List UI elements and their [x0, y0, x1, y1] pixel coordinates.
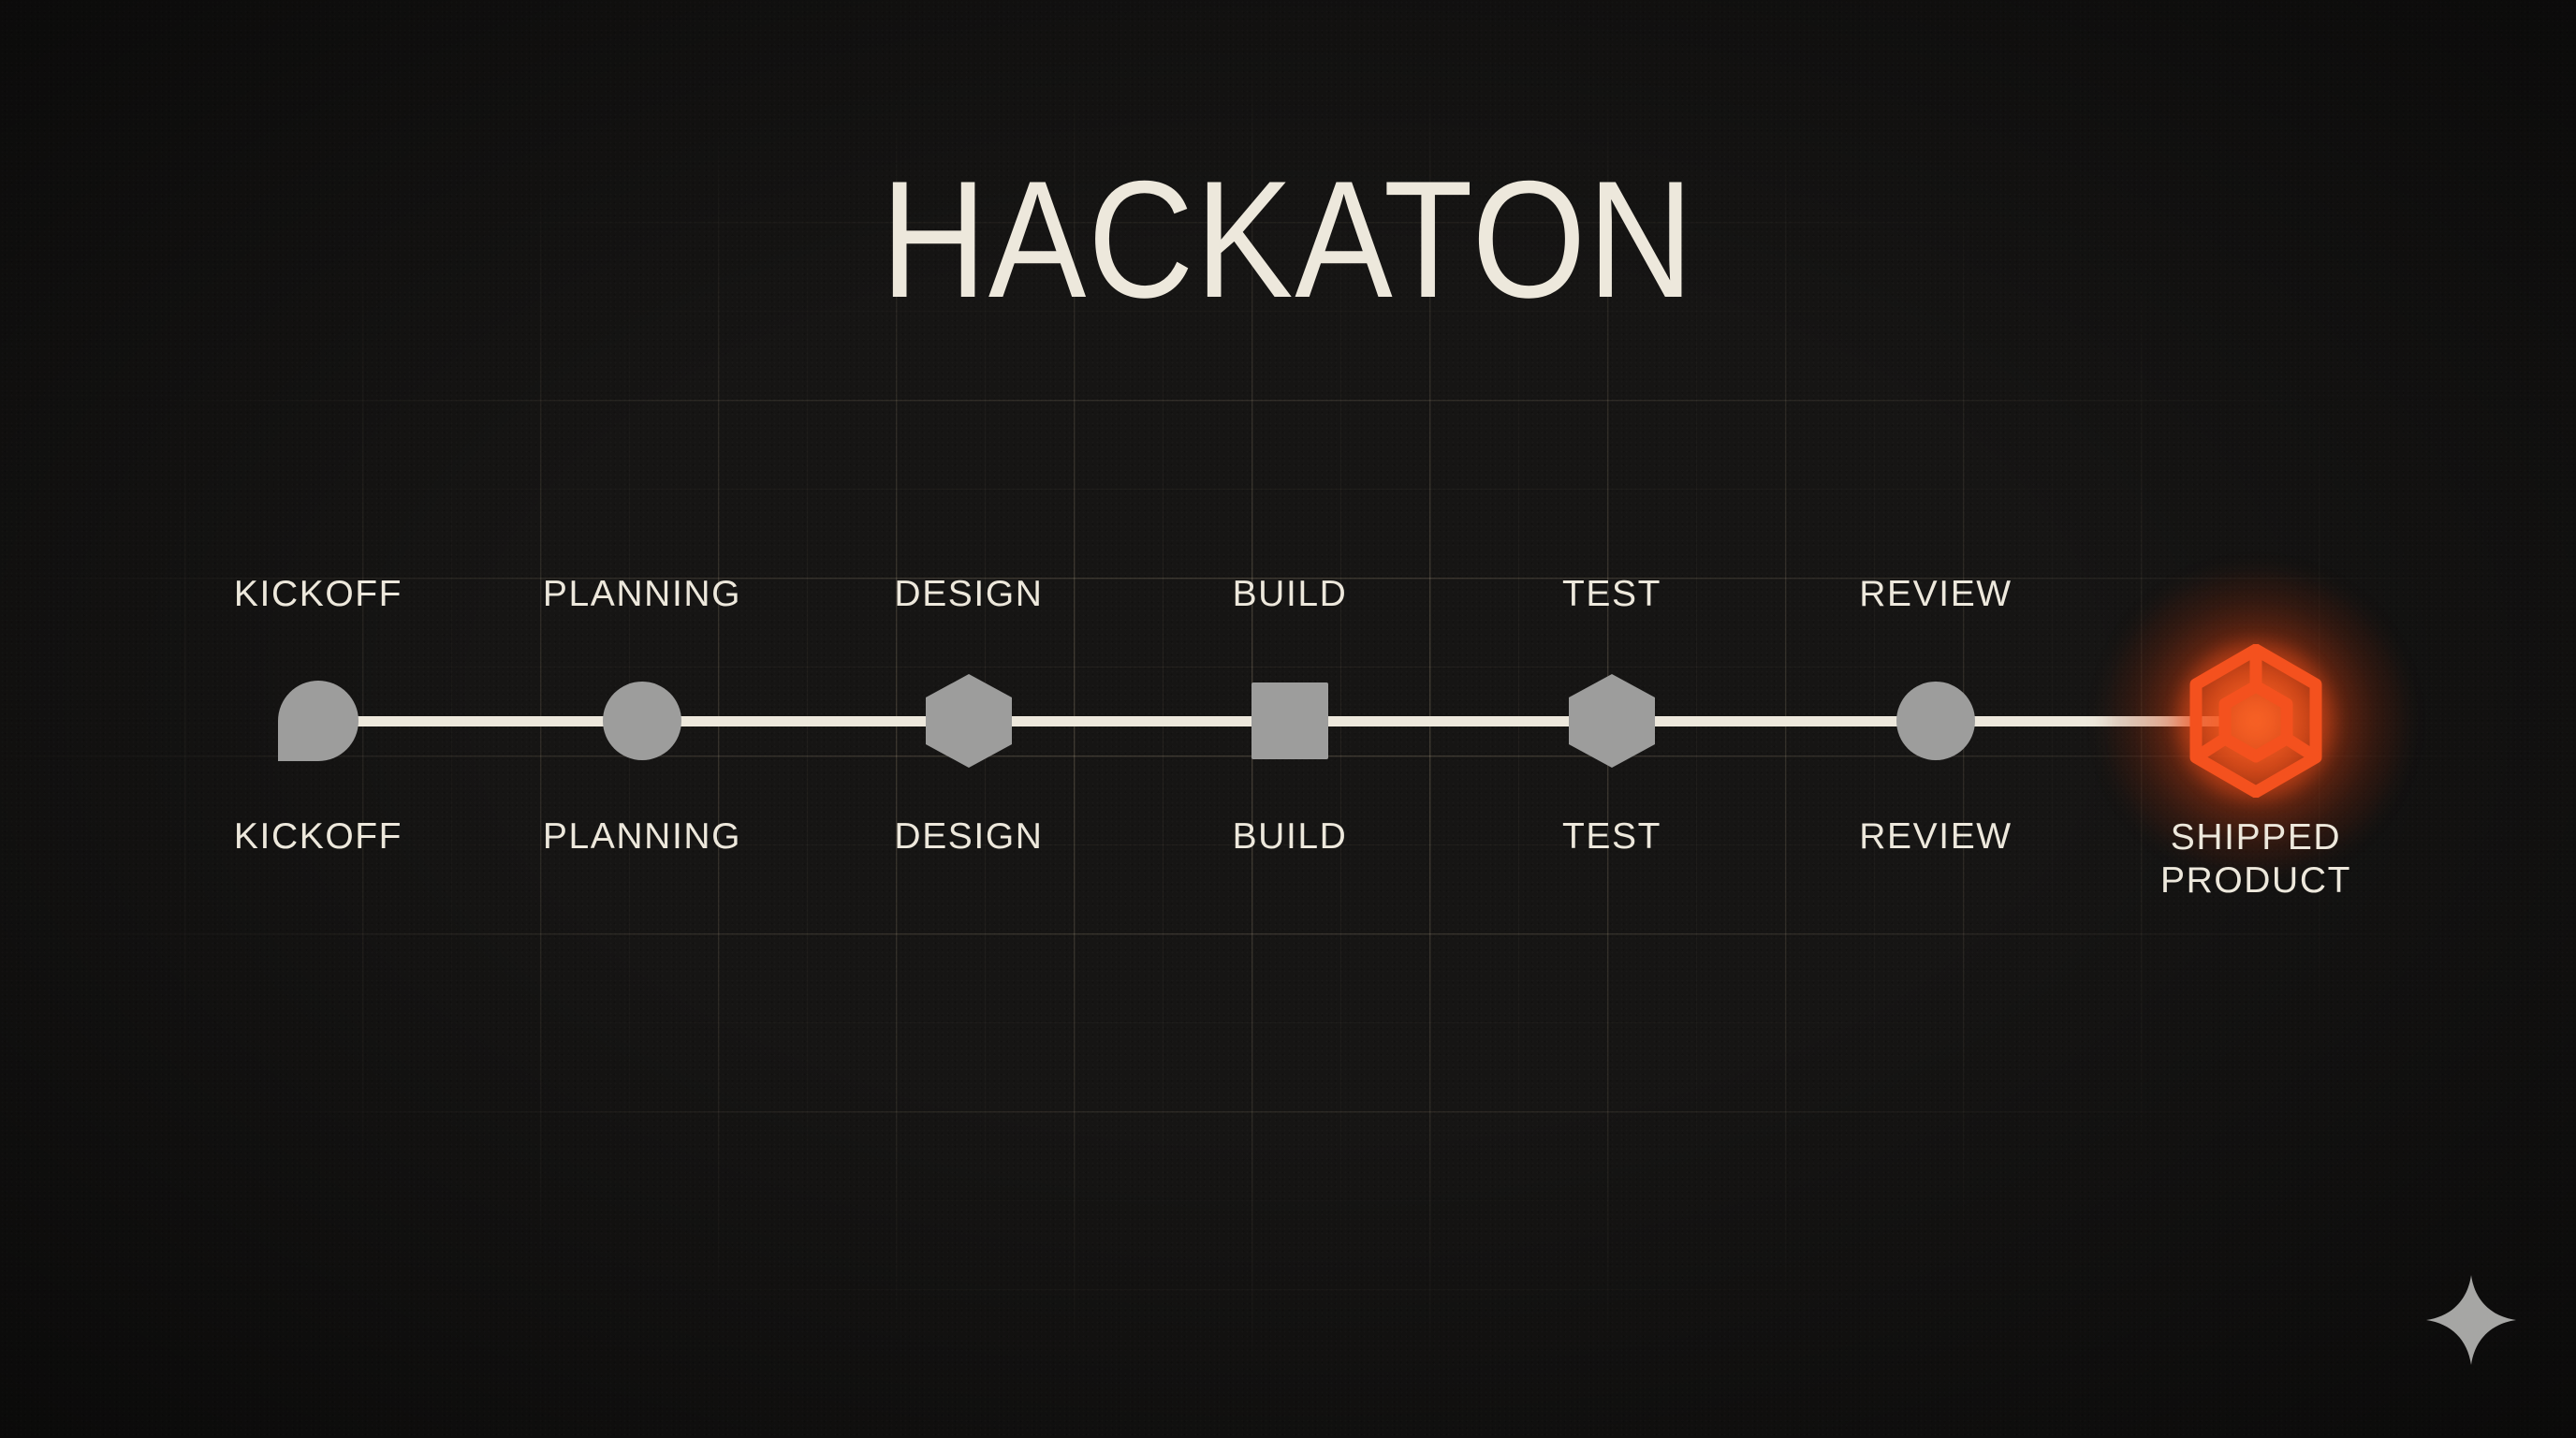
timeline-top-label-kickoff: KICKOFF [234, 574, 402, 615]
timeline-top-label-review: REVIEW [1859, 574, 2012, 615]
timeline-node-test[interactable] [1569, 674, 1655, 768]
timeline-bottom-label-design: DESIGN [894, 816, 1043, 858]
timeline-node-review[interactable] [1896, 682, 1975, 760]
four-point-sparkle-icon [2426, 1275, 2516, 1365]
timeline-bottom-label-kickoff: KICKOFF [234, 816, 402, 858]
timeline-node-kickoff[interactable] [278, 681, 359, 761]
timeline-node-design[interactable] [926, 674, 1012, 768]
timeline-node-build[interactable] [1251, 682, 1328, 759]
timeline-top-label-build: BUILD [1233, 574, 1348, 615]
cube-gem-icon [2186, 644, 2326, 798]
timeline-node-planning[interactable] [603, 682, 681, 760]
timeline-bottom-label-review: REVIEW [1859, 816, 2012, 858]
page-title: HACKATON [154, 156, 2422, 323]
timeline-bottom-label-build: BUILD [1233, 816, 1348, 858]
timeline-top-label-planning: PLANNING [543, 574, 741, 615]
timeline-bottom-label-shipped-product: SHIPPED PRODUCT [2160, 816, 2351, 902]
timeline-top-label-design: DESIGN [894, 574, 1043, 615]
timeline-bottom-label-planning: PLANNING [543, 816, 741, 858]
timeline-top-label-test: TEST [1562, 574, 1661, 615]
slide-canvas: HACKATON KICKOFFKICKOFFPLANNINGPLANNINGD… [0, 0, 2576, 1438]
timeline-bottom-label-test: TEST [1562, 816, 1661, 858]
